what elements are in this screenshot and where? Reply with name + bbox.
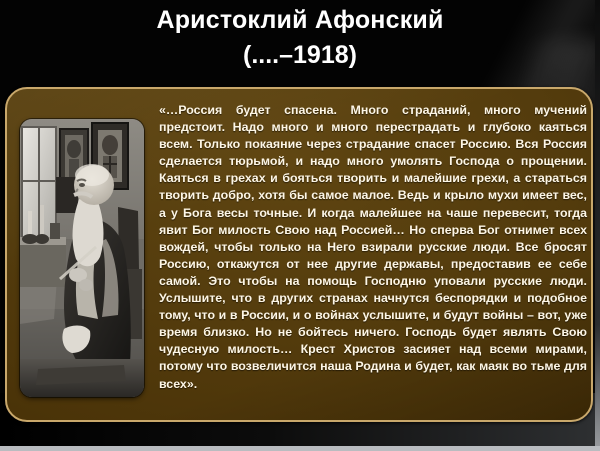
elder-portrait-photo (20, 119, 144, 397)
content-panel: «…Россия будет спасена. Много страданий,… (5, 87, 593, 422)
quote-text: «…Россия будет спасена. Много страданий,… (159, 102, 587, 393)
elder-portrait-illustration (20, 119, 144, 397)
title-name-line: Аристоклий Афонский (0, 4, 600, 36)
slide-canvas: Аристоклий Афонский (....–1918) (0, 0, 600, 451)
background-bottom-border (0, 446, 600, 451)
title-dates-line: (....–1918) (0, 38, 600, 72)
page-title: Аристоклий Афонский (....–1918) (0, 4, 600, 72)
